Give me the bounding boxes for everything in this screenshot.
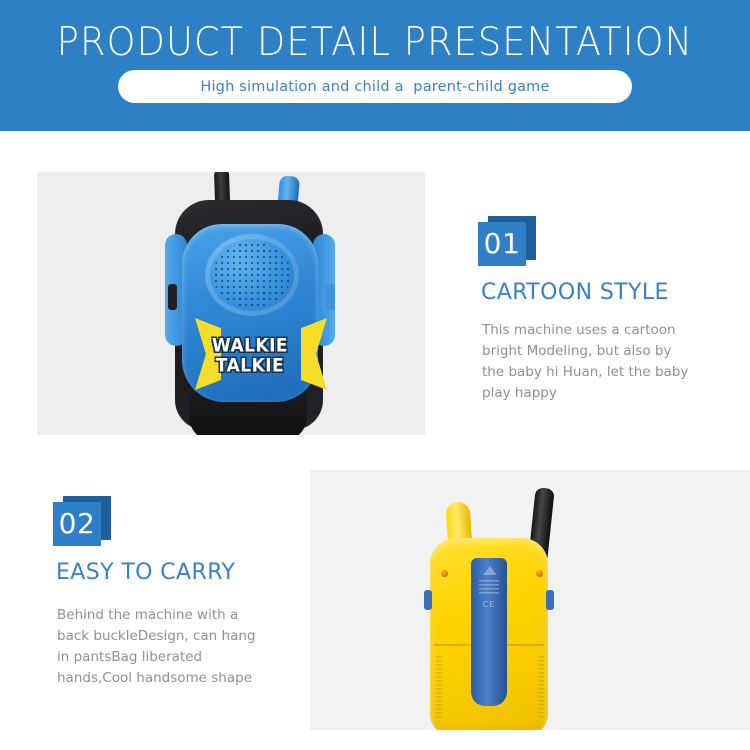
banner-subtitle-text: High simulation and child a parent-child… xyxy=(200,79,549,95)
side-button-right xyxy=(546,590,554,610)
section-body-easy-to-carry: Behind the machine with a back buckleDes… xyxy=(57,605,272,689)
product-logo-text: WALKIE TALKIE xyxy=(189,336,311,376)
side-tab-right xyxy=(326,284,335,310)
section-badge-02: 02 xyxy=(53,496,111,546)
speaker-grille xyxy=(213,242,291,308)
page-title: PRODUCT DETAIL PRESENTATION xyxy=(23,20,728,66)
section-heading-easy-to-carry: EASY TO CARRY xyxy=(56,560,235,585)
section-body-cartoon-style: This machine uses a cartoon bright Model… xyxy=(482,320,690,404)
section-heading-cartoon-style: CARTOON STYLE xyxy=(481,280,669,305)
product-photo-yellow-walkie-talkie: CE xyxy=(310,470,750,730)
banner-subtitle-pill: High simulation and child a parent-child… xyxy=(118,70,632,103)
badge-front-square: 01 xyxy=(478,222,526,266)
grip-ridges-left xyxy=(436,656,442,720)
product-logo-line1: WALKIE xyxy=(189,336,311,356)
badge-number: 02 xyxy=(59,510,96,538)
side-tab-left xyxy=(168,284,177,310)
clip-arrow-icon xyxy=(483,566,497,575)
clip-texture-lines xyxy=(479,580,499,596)
badge-front-square: 02 xyxy=(53,502,101,546)
product-photo-blue-walkie-talkie: WALKIE TALKIE xyxy=(37,172,425,435)
page-banner: PRODUCT DETAIL PRESENTATION High simulat… xyxy=(0,0,750,131)
badge-number: 01 xyxy=(484,230,521,258)
screw-left xyxy=(441,570,448,577)
product-logo-line2: TALKIE xyxy=(189,356,311,376)
clip-ce-marking: CE xyxy=(476,600,502,609)
grip-ridges-right xyxy=(538,656,544,720)
side-button-left xyxy=(424,590,432,610)
screw-right xyxy=(536,570,543,577)
section-badge-01: 01 xyxy=(478,216,536,266)
